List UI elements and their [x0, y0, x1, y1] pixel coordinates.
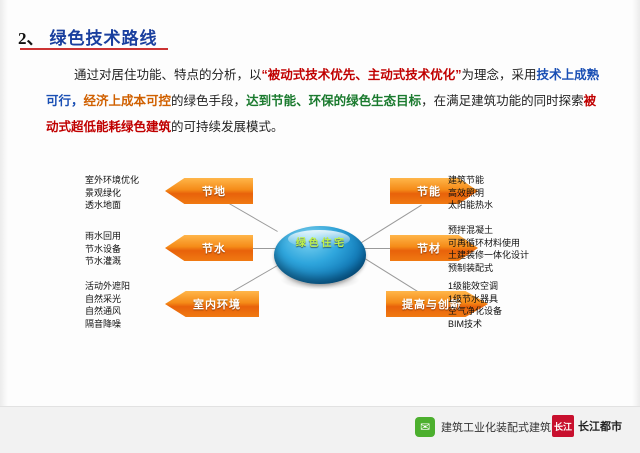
wechat-text: 建筑工业化装配式建筑网: [441, 419, 562, 435]
para-seg-10: ，在满足建筑: [421, 94, 496, 108]
green-technology-diagram: 节地 节水 室内环境 节能 节材 提高与创新 室外环境优化 景观绿化 透水地面 …: [60, 172, 580, 352]
branch-chevron-jieshui[interactable]: 节水: [165, 235, 253, 261]
branch-text-shineihuanjing: 活动外遮阳 自然采光 自然通风 隔音降噪: [85, 280, 130, 330]
branch-label-jieshui: 节水: [202, 240, 226, 256]
slide-page: 2、 绿色技术路线 通过对居住功能、特点的分析，以“被动式技术优先、主动式技术优…: [0, 0, 640, 453]
branch-chevron-jiedi[interactable]: 节地: [165, 178, 253, 204]
center-node[interactable]: 绿 色 住 宅: [274, 226, 366, 296]
para-seg-6: ，: [71, 94, 84, 108]
branch-chevron-shineihuanjing[interactable]: 室内环境: [165, 291, 259, 317]
body-paragraph: 通过对居住功能、特点的分析，以“被动式技术优先、主动式技术优化”为理念，采用技术…: [46, 62, 606, 140]
page-title: 2、 绿色技术路线: [18, 24, 158, 49]
left-edge-shade: [0, 0, 8, 407]
right-edge-shade: [632, 0, 640, 407]
para-seg-11: 功能的同时探索: [496, 94, 584, 108]
title-number: 2、: [18, 24, 44, 49]
para-seg-3: 为理念，采用: [462, 68, 537, 82]
branch-text-jieshui: 雨水回用 节水设备 节水灌溉: [85, 230, 121, 268]
para-seg-9: 达到节能、环保的绿色生态目标: [246, 94, 421, 108]
branch-text-jiedi: 室外环境优化 景观绿化 透水地面: [85, 174, 139, 212]
center-node-label: 绿 色 住 宅: [274, 237, 366, 250]
branch-label-jiedi: 节地: [202, 183, 226, 199]
title-text: 绿色技术路线: [50, 24, 158, 49]
branch-text-jieneng: 建筑节能 高效照明 太阳能热水: [448, 174, 493, 212]
brand-name: 长江都市: [578, 418, 622, 434]
para-seg-8: 的绿色手段，: [171, 94, 246, 108]
wechat-icon: ✉: [415, 417, 435, 437]
wechat-credit: ✉ 建筑工业化装配式建筑网: [415, 417, 562, 437]
footer-bar: ✉ 建筑工业化装配式建筑网 长江 长江都市: [0, 406, 640, 453]
brand-mark-icon: 长江: [552, 415, 574, 437]
para-seg-4: 技: [537, 68, 550, 82]
title-underline: [20, 48, 168, 50]
branch-text-jiecai: 预拌混凝土 可再循环材料使用 土建装修一体化设计 预制装配式: [448, 224, 529, 274]
branch-text-tigaoyuchuangxin: 1级能效空调 1级节水器具 空气净化设备 BIM技术: [448, 280, 502, 330]
branch-label-jiecai: 节材: [417, 240, 441, 256]
para-seg-7: 经济上成本可控: [84, 94, 172, 108]
para-seg-2: “被动式技术优先、主动式技术优化”: [262, 68, 462, 82]
branch-label-shineihuanjing: 室内环境: [193, 296, 241, 312]
para-seg-13: 的可持续发展模式。: [171, 120, 284, 134]
brand-logo: 长江 长江都市: [552, 415, 622, 437]
para-seg-1: 通过对居住功能、特点的分析，以: [74, 68, 262, 82]
branch-label-jieneng: 节能: [417, 183, 441, 199]
